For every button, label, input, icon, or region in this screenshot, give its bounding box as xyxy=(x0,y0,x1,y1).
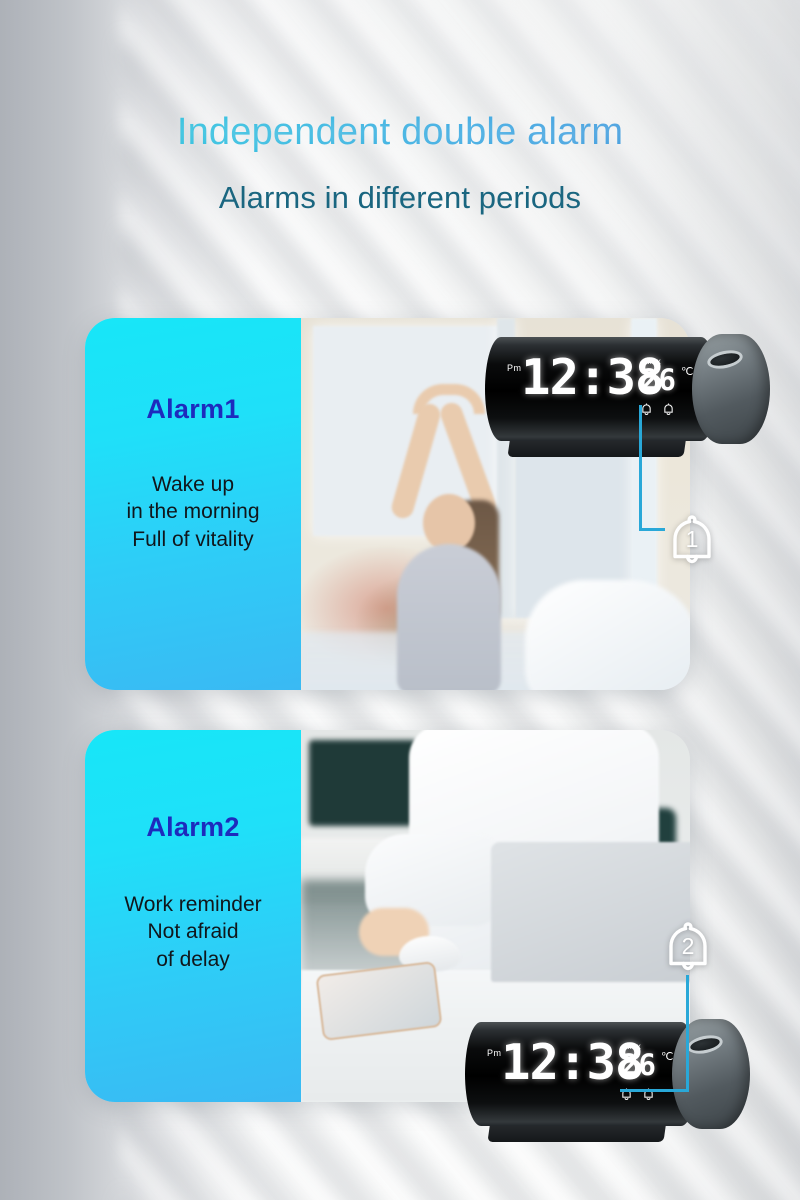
alarm-1-text-panel: Alarm1 Wake up in the morning Full of vi… xyxy=(85,318,301,690)
alarm-2-description: Work reminder Not afraid of delay xyxy=(124,891,261,973)
alarm-2-text-panel: Alarm2 Work reminder Not afraid of delay xyxy=(85,730,301,1102)
person-torso xyxy=(397,544,501,690)
alarm-badge-1-number: 1 xyxy=(664,526,720,553)
alarm-2-line-1: Work reminder xyxy=(124,891,261,918)
clock-display-1: Pm 12:38 Max 26 ℃ xyxy=(485,337,717,441)
header-block: Independent double alarm Alarms in diffe… xyxy=(0,112,800,216)
alarm-badge-2-number: 2 xyxy=(660,933,716,960)
alarm-1-line-2: in the morning xyxy=(126,498,259,525)
callout-line-1-vertical xyxy=(639,405,642,531)
alarm-clock-device-2: Pm 12:38 Max 26 ℃ xyxy=(465,1022,750,1126)
callout-line-1-horizontal xyxy=(639,528,665,531)
temperature-unit-1: ℃ xyxy=(681,365,693,378)
clock-display-2: Pm 12:38 Max 26 ℃ xyxy=(465,1022,697,1126)
alarm-1-line-3: Full of vitality xyxy=(126,526,259,553)
meridiem-indicator-1: Pm xyxy=(507,363,522,373)
alarm-clock-device-1: Pm 12:38 Max 26 ℃ xyxy=(485,337,770,441)
alarm-1-line-1: Wake up xyxy=(126,471,259,498)
alarm-1-title: Alarm1 xyxy=(146,394,239,425)
alarm-bell-indicator-1b xyxy=(663,403,674,415)
office-monitor xyxy=(309,740,417,826)
alarm-badge-2: 2 xyxy=(660,920,716,978)
alarm-bell-indicator-1a xyxy=(641,403,652,415)
alarm-indicators-1 xyxy=(641,403,685,415)
projector-cap-2 xyxy=(672,1019,750,1129)
temperature-value-1: 26 xyxy=(641,366,676,395)
callout-line-2-horizontal xyxy=(620,1089,689,1092)
meridiem-indicator-2: Pm xyxy=(487,1048,502,1058)
page-title: Independent double alarm xyxy=(0,112,800,154)
projector-cap-1 xyxy=(692,334,770,444)
alarm-2-line-2: Not afraid xyxy=(124,918,261,945)
callout-line-2-vertical xyxy=(686,975,689,1092)
projector-lens-2 xyxy=(686,1032,725,1056)
product-feature-page: Independent double alarm Alarms in diffe… xyxy=(0,0,800,1200)
temperature-value-2: 26 xyxy=(621,1051,656,1080)
alarm-badge-1: 1 xyxy=(664,513,720,571)
projector-lens-1 xyxy=(706,347,745,371)
alarm-1-description: Wake up in the morning Full of vitality xyxy=(126,471,259,553)
temperature-unit-2: ℃ xyxy=(661,1050,673,1063)
alarm-2-line-3: of delay xyxy=(124,946,261,973)
bed-pillow xyxy=(525,580,690,690)
clock-body-2: Pm 12:38 Max 26 ℃ xyxy=(465,1022,697,1126)
alarm-2-title: Alarm2 xyxy=(146,812,239,843)
clock-body-1: Pm 12:38 Max 26 ℃ xyxy=(485,337,717,441)
page-subtitle: Alarms in different periods xyxy=(0,180,800,216)
